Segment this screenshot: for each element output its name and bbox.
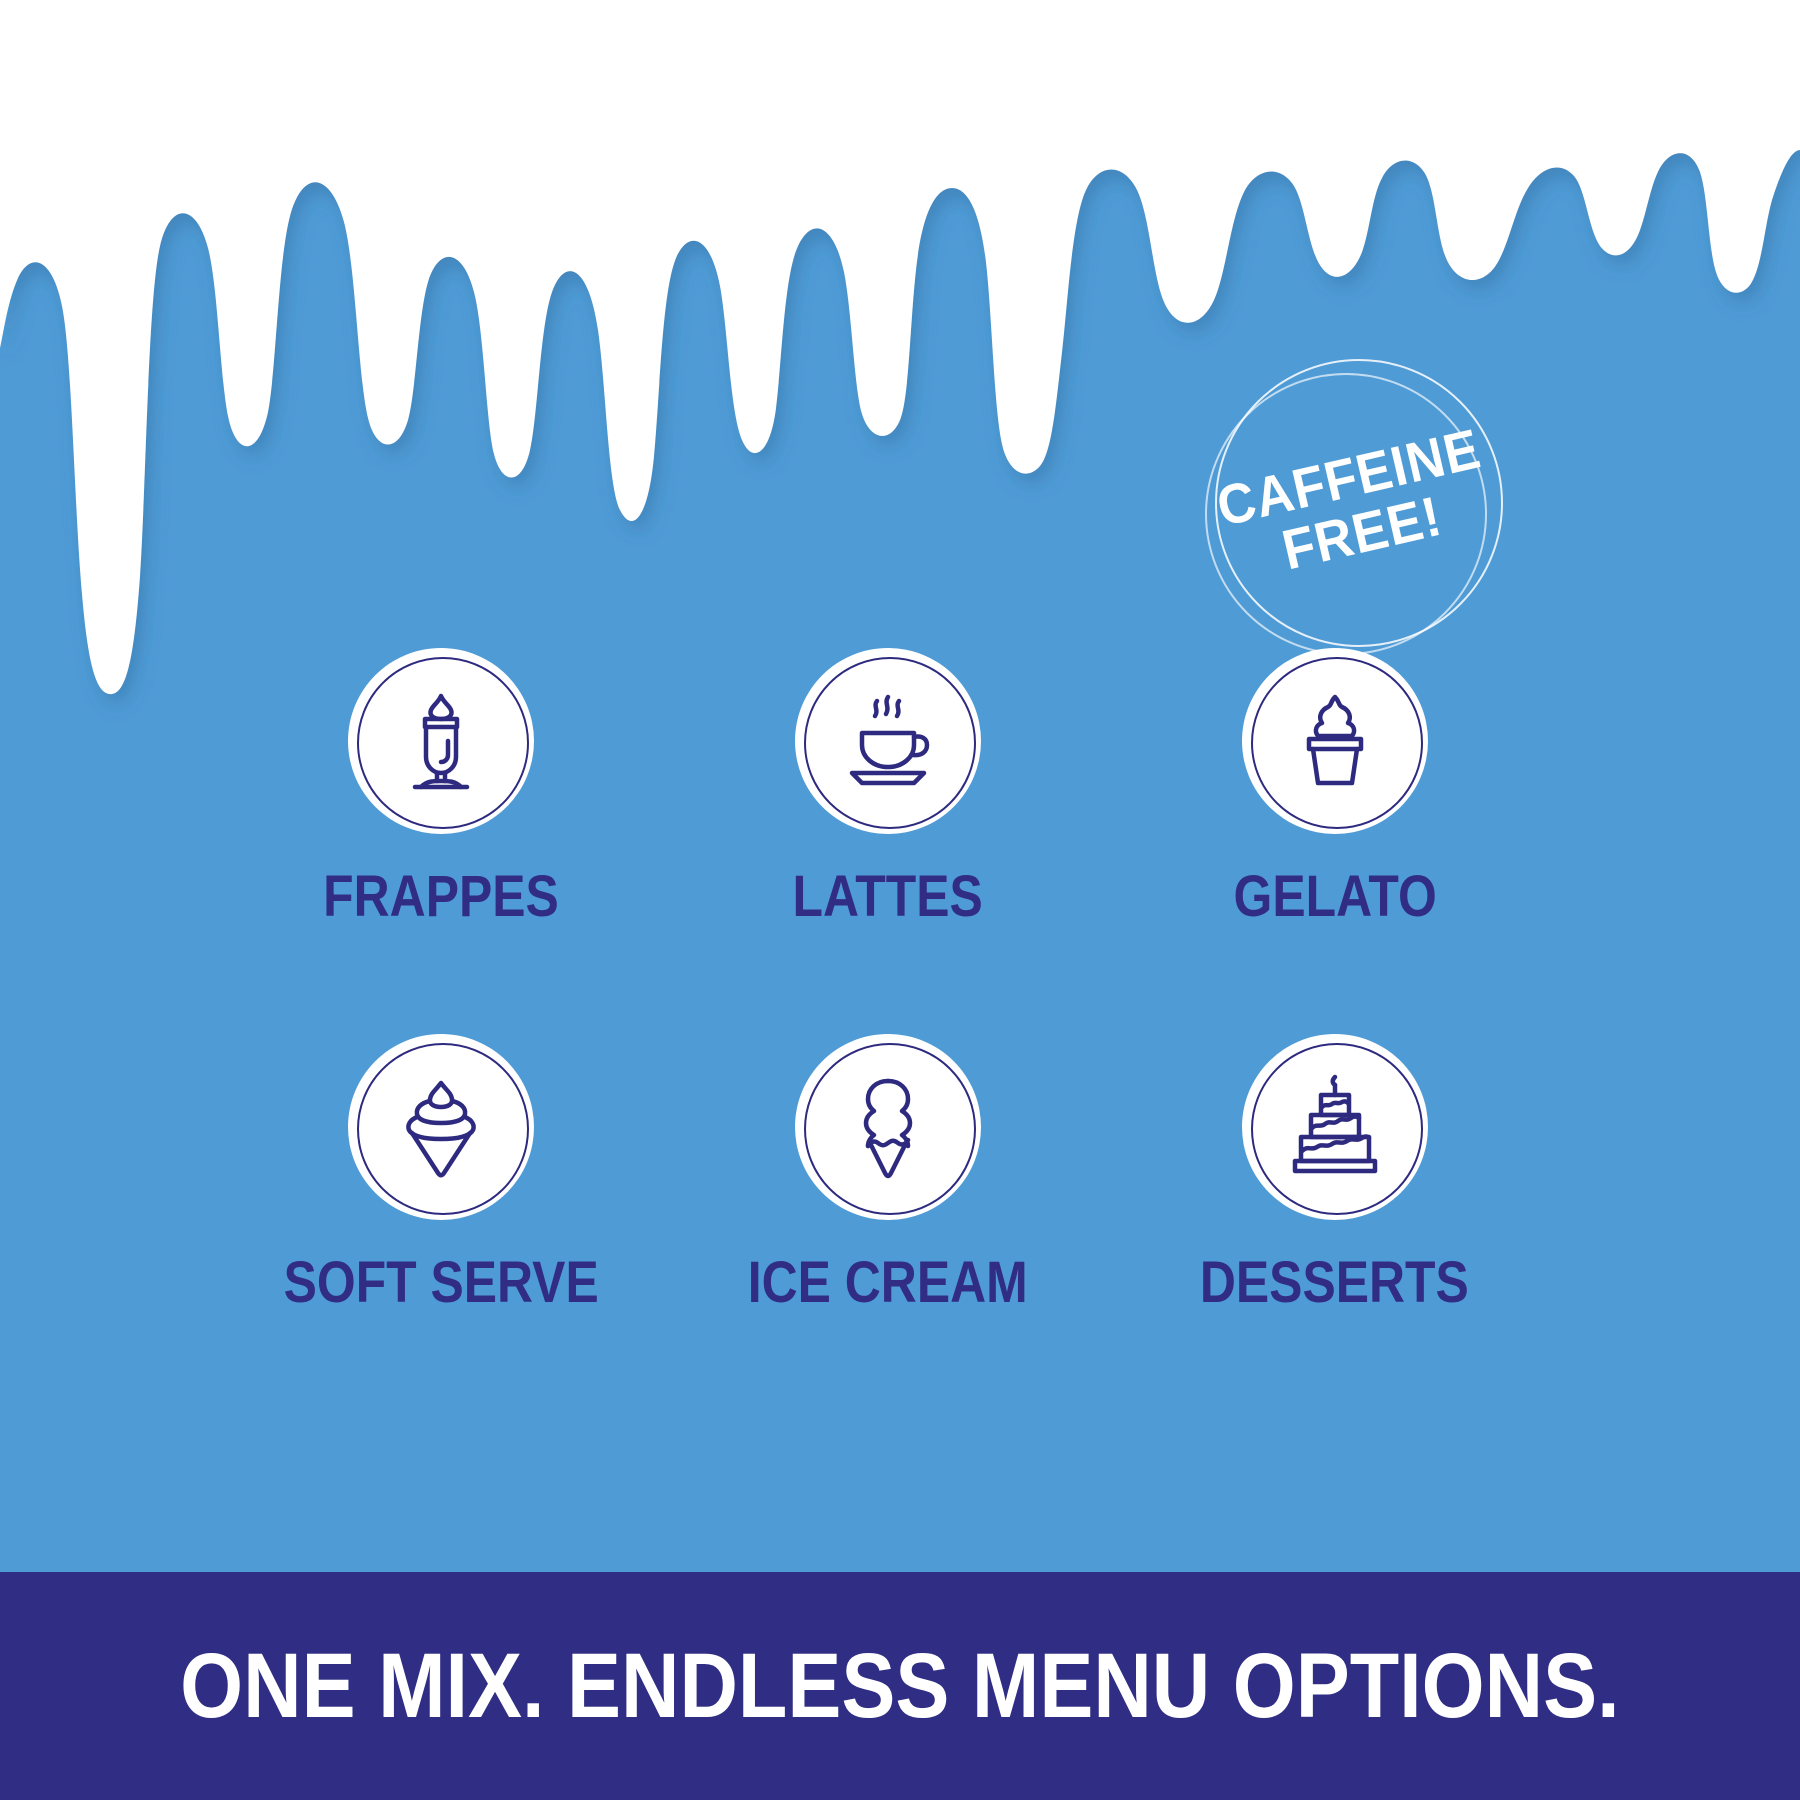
menu-item-soft-serve[interactable]: SOFT SERVE bbox=[218, 1034, 665, 1312]
frappe-icon-circle bbox=[348, 648, 534, 834]
coffee-cup-icon bbox=[832, 685, 944, 797]
desserts-icon-circle bbox=[1242, 1034, 1428, 1220]
latte-icon-circle bbox=[795, 648, 981, 834]
menu-item-label: GELATO bbox=[1233, 868, 1436, 926]
menu-item-label: LATTES bbox=[793, 868, 983, 926]
tiered-cake-icon bbox=[1279, 1071, 1391, 1183]
menu-item-frappes[interactable]: FRAPPES bbox=[218, 648, 665, 926]
menu-item-gelato[interactable]: GELATO bbox=[1111, 648, 1558, 926]
menu-item-label: SOFT SERVE bbox=[284, 1254, 599, 1312]
soft-serve-icon-circle bbox=[348, 1034, 534, 1220]
tagline-text: ONE MIX. ENDLESS MENU OPTIONS. bbox=[180, 1640, 1619, 1732]
menu-item-label: DESSERTS bbox=[1200, 1254, 1469, 1312]
menu-item-desserts[interactable]: DESSERTS bbox=[1111, 1034, 1558, 1312]
ice-cream-cone-icon bbox=[832, 1071, 944, 1183]
menu-item-label: ICE CREAM bbox=[748, 1254, 1028, 1312]
menu-item-lattes[interactable]: LATTES bbox=[665, 648, 1112, 926]
caffeine-free-badge: CAFFEINE FREE! bbox=[1205, 355, 1505, 655]
menu-options-grid: FRAPPES LATTES bbox=[218, 648, 1558, 1312]
gelato-icon-circle bbox=[1242, 648, 1428, 834]
tagline-banner: ONE MIX. ENDLESS MENU OPTIONS. bbox=[0, 1572, 1800, 1800]
menu-item-label: FRAPPES bbox=[324, 868, 560, 926]
menu-item-ice-cream[interactable]: ICE CREAM bbox=[665, 1034, 1112, 1312]
soft-serve-cone-icon bbox=[385, 1071, 497, 1183]
frappe-glass-icon bbox=[385, 685, 497, 797]
ice-cream-icon-circle bbox=[795, 1034, 981, 1220]
poster-canvas: CAFFEINE FREE! FRAPPES bbox=[0, 0, 1800, 1800]
gelato-cup-icon bbox=[1279, 685, 1391, 797]
badge-text-group: CAFFEINE FREE! bbox=[1175, 325, 1535, 685]
